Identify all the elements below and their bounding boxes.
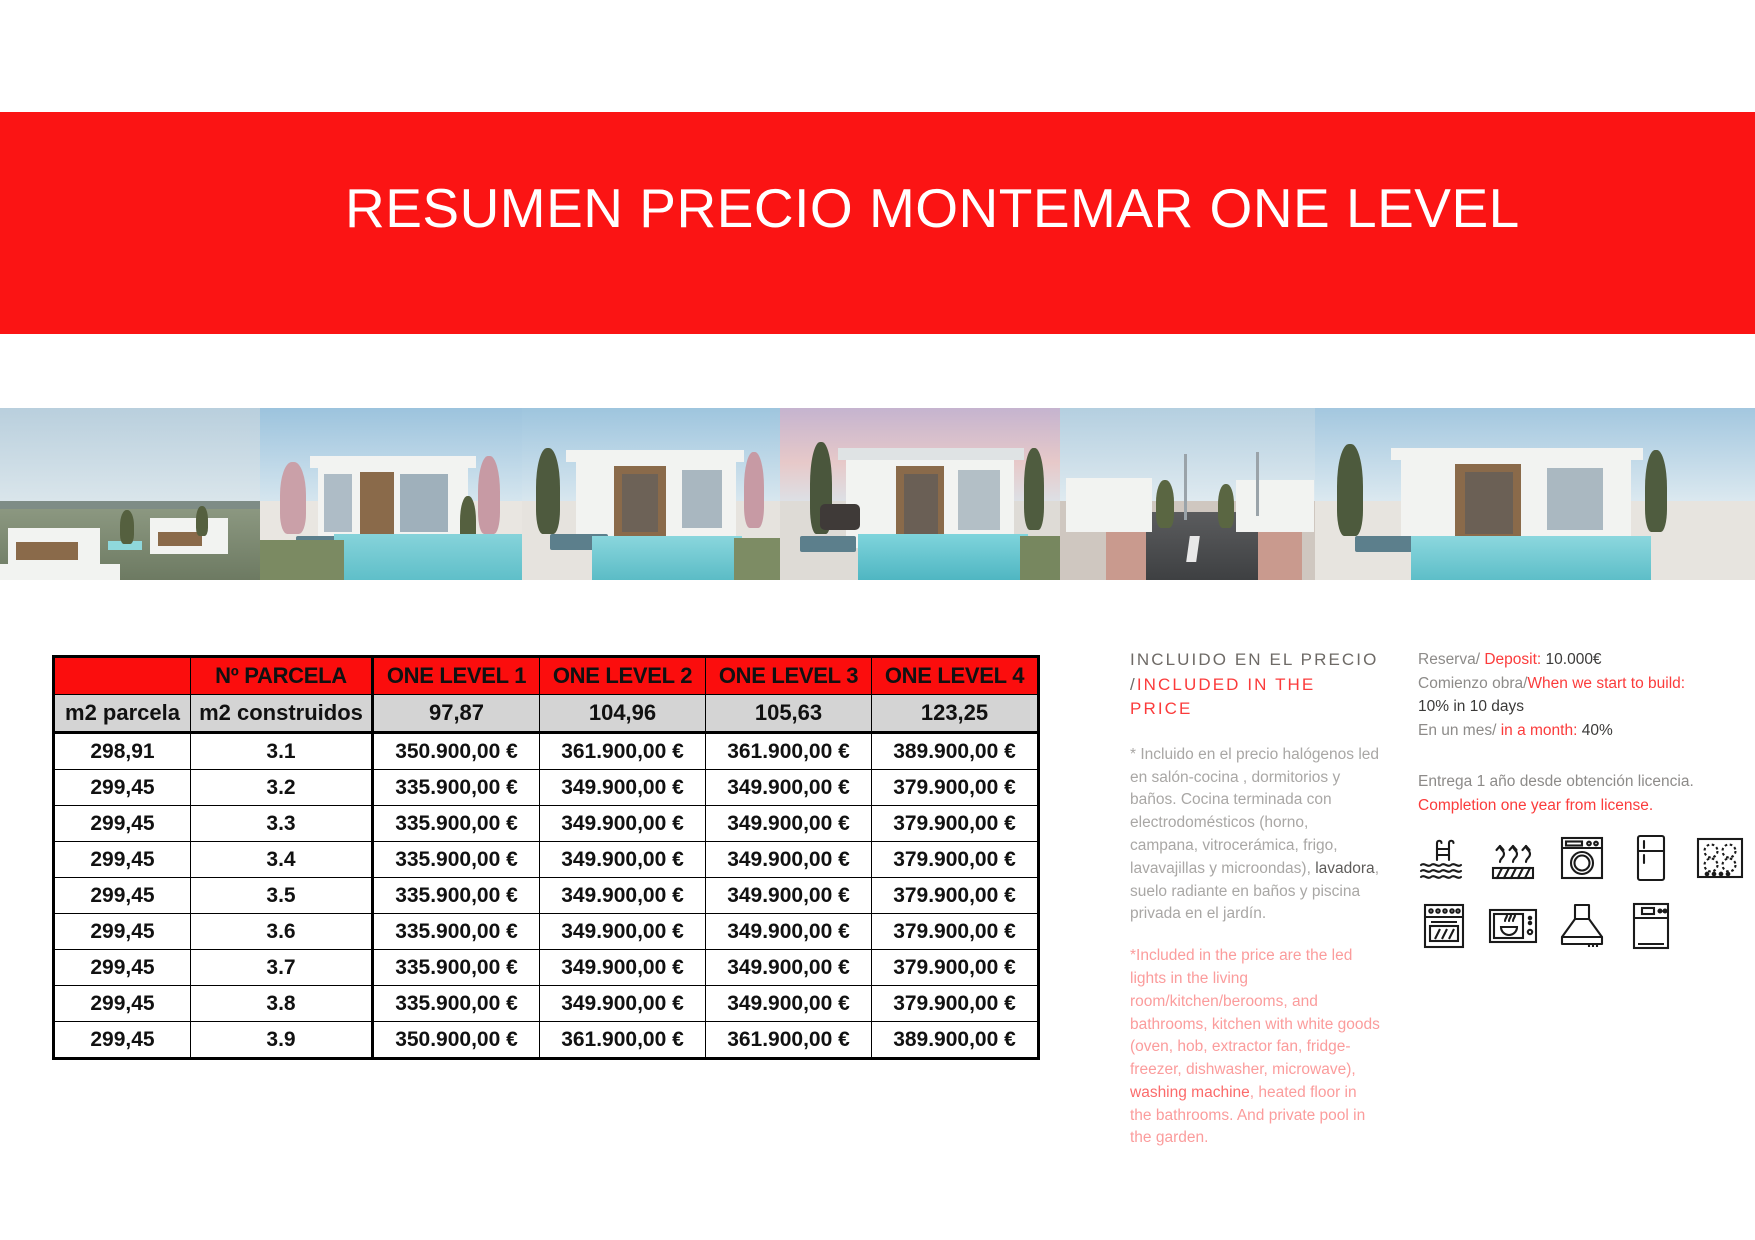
terms-month-line: En un mes/ in a month: 40% bbox=[1418, 719, 1718, 743]
extractor-hood-icon bbox=[1556, 900, 1608, 952]
photo-villa-terrace-pool-1 bbox=[260, 408, 522, 580]
terms-delivery-es: Entrega 1 año desde obtención licencia. bbox=[1418, 770, 1718, 794]
table-row: 299,45 3.2 335.900,00 € 349.900,00 € 349… bbox=[54, 770, 1039, 806]
header-area-one-level-3: 105,63 bbox=[706, 695, 872, 733]
terms-start-build-value: 10% in 10 days bbox=[1418, 695, 1718, 719]
cell-price-level-2: 349.900,00 € bbox=[540, 842, 706, 878]
photo-villa-terrace-pool-3 bbox=[1315, 408, 1755, 580]
cell-m2-parcela: 299,45 bbox=[54, 986, 191, 1022]
cell-price-level-4: 379.900,00 € bbox=[872, 770, 1039, 806]
private-pool-icon bbox=[1418, 832, 1470, 884]
included-heading-en: /INCLUDED IN THE PRICE bbox=[1130, 673, 1380, 722]
included-body-es: * Incluido en el precio halógenos led en… bbox=[1130, 744, 1380, 926]
appliance-icon-row-2 bbox=[1418, 900, 1728, 952]
cell-price-level-1: 335.900,00 € bbox=[373, 842, 540, 878]
included-body-en-highlight: washing machine bbox=[1130, 1084, 1250, 1101]
cell-price-level-1: 335.900,00 € bbox=[373, 806, 540, 842]
cell-m2-parcela: 299,45 bbox=[54, 842, 191, 878]
microwave-icon bbox=[1487, 900, 1539, 952]
cell-m2-parcela: 299,45 bbox=[54, 806, 191, 842]
cell-price-level-1: 335.900,00 € bbox=[373, 878, 540, 914]
table-row: 299,45 3.7 335.900,00 € 349.900,00 € 349… bbox=[54, 950, 1039, 986]
cell-parcela-number: 3.1 bbox=[191, 733, 373, 770]
photo-aerial-view-development bbox=[0, 408, 260, 580]
terms-start-build-label-es: Comienzo obra/ bbox=[1418, 675, 1527, 692]
cell-m2-parcela: 299,45 bbox=[54, 950, 191, 986]
included-body-en-part1: *Included in the price are the led light… bbox=[1130, 947, 1380, 1078]
included-body-es-highlight: lavadora bbox=[1315, 860, 1374, 877]
cell-price-level-3: 349.900,00 € bbox=[706, 878, 872, 914]
terms-deposit-value: 10.000€ bbox=[1541, 651, 1601, 668]
cell-m2-parcela: 298,91 bbox=[54, 733, 191, 770]
cell-m2-parcela: 299,45 bbox=[54, 878, 191, 914]
terms-month-label-en: in a month: bbox=[1501, 722, 1578, 739]
header-one-level-2: ONE LEVEL 2 bbox=[540, 657, 706, 695]
cell-m2-parcela: 299,45 bbox=[54, 914, 191, 950]
cell-price-level-2: 361.900,00 € bbox=[540, 733, 706, 770]
cell-price-level-4: 379.900,00 € bbox=[872, 950, 1039, 986]
cell-price-level-4: 379.900,00 € bbox=[872, 878, 1039, 914]
cell-m2-parcela: 299,45 bbox=[54, 770, 191, 806]
hob-icon bbox=[1694, 832, 1746, 884]
table-row: 299,45 3.4 335.900,00 € 349.900,00 € 349… bbox=[54, 842, 1039, 878]
cell-price-level-3: 349.900,00 € bbox=[706, 950, 872, 986]
table-header-row-gray: m2 parcela m2 construidos 97,87 104,96 1… bbox=[54, 695, 1039, 733]
cell-price-level-3: 349.900,00 € bbox=[706, 986, 872, 1022]
cell-price-level-4: 389.900,00 € bbox=[872, 1022, 1039, 1059]
cell-parcela-number: 3.7 bbox=[191, 950, 373, 986]
table-row: 299,45 3.6 335.900,00 € 349.900,00 € 349… bbox=[54, 914, 1039, 950]
terms-start-build-label-en: When we start to build: bbox=[1527, 675, 1685, 692]
header-m2-construidos: m2 construidos bbox=[191, 695, 373, 733]
cell-parcela-number: 3.3 bbox=[191, 806, 373, 842]
included-body-en: *Included in the price are the led light… bbox=[1130, 945, 1380, 1150]
table-body: 298,91 3.1 350.900,00 € 361.900,00 € 361… bbox=[54, 733, 1039, 1059]
underfloor-heating-icon bbox=[1487, 832, 1539, 884]
cell-price-level-3: 349.900,00 € bbox=[706, 914, 872, 950]
terms-deposit-label-en: Deposit: bbox=[1484, 651, 1541, 668]
photo-strip bbox=[0, 408, 1755, 580]
photo-street-view-development bbox=[1060, 408, 1315, 580]
oven-icon bbox=[1418, 900, 1470, 952]
photo-villa-dusk-carport bbox=[780, 408, 1060, 580]
pricing-table: Nº PARCELA ONE LEVEL 1 ONE LEVEL 2 ONE L… bbox=[52, 655, 1040, 1060]
header-blank bbox=[54, 657, 191, 695]
cell-price-level-1: 350.900,00 € bbox=[373, 733, 540, 770]
header-one-level-4: ONE LEVEL 4 bbox=[872, 657, 1039, 695]
slash-separator: / bbox=[1130, 675, 1137, 694]
terms-start-build-line: Comienzo obra/When we start to build: bbox=[1418, 672, 1718, 696]
included-heading-es: INCLUIDO EN EL PRECIO bbox=[1130, 648, 1380, 673]
cell-price-level-1: 335.900,00 € bbox=[373, 986, 540, 1022]
pricing-table-wrap: Nº PARCELA ONE LEVEL 1 ONE LEVEL 2 ONE L… bbox=[52, 655, 1040, 1060]
cell-price-level-2: 361.900,00 € bbox=[540, 1022, 706, 1059]
table-row: 299,45 3.8 335.900,00 € 349.900,00 € 349… bbox=[54, 986, 1039, 1022]
cell-m2-parcela: 299,45 bbox=[54, 1022, 191, 1059]
cell-price-level-1: 350.900,00 € bbox=[373, 1022, 540, 1059]
cell-price-level-4: 379.900,00 € bbox=[872, 914, 1039, 950]
terms-deposit-line: Reserva/ Deposit: 10.000€ bbox=[1418, 648, 1718, 672]
cell-price-level-2: 349.900,00 € bbox=[540, 914, 706, 950]
cell-price-level-3: 349.900,00 € bbox=[706, 770, 872, 806]
cell-price-level-4: 379.900,00 € bbox=[872, 806, 1039, 842]
appliance-icon-row-1 bbox=[1418, 832, 1728, 884]
cell-parcela-number: 3.4 bbox=[191, 842, 373, 878]
terms-deposit-label-es: Reserva/ bbox=[1418, 651, 1484, 668]
included-heading-en-text: INCLUDED IN THE PRICE bbox=[1130, 675, 1315, 719]
photo-villa-terrace-pool-2 bbox=[522, 408, 780, 580]
cell-price-level-4: 379.900,00 € bbox=[872, 842, 1039, 878]
table-header-row-red: Nº PARCELA ONE LEVEL 1 ONE LEVEL 2 ONE L… bbox=[54, 657, 1039, 695]
included-body-es-part1: * Incluido en el precio halógenos led en… bbox=[1130, 746, 1379, 877]
cell-parcela-number: 3.6 bbox=[191, 914, 373, 950]
cell-price-level-2: 349.900,00 € bbox=[540, 806, 706, 842]
header-one-level-3: ONE LEVEL 3 bbox=[706, 657, 872, 695]
cell-parcela-number: 3.2 bbox=[191, 770, 373, 806]
terms-month-value: 40% bbox=[1577, 722, 1612, 739]
table-row: 298,91 3.1 350.900,00 € 361.900,00 € 361… bbox=[54, 733, 1039, 770]
title-banner: RESUMEN PRECIO MONTEMAR ONE LEVEL bbox=[0, 112, 1755, 334]
table-row: 299,45 3.9 350.900,00 € 361.900,00 € 361… bbox=[54, 1022, 1039, 1059]
cell-price-level-3: 361.900,00 € bbox=[706, 733, 872, 770]
header-area-one-level-1: 97,87 bbox=[373, 695, 540, 733]
cell-price-level-2: 349.900,00 € bbox=[540, 950, 706, 986]
included-in-price-section: INCLUIDO EN EL PRECIO /INCLUDED IN THE P… bbox=[1130, 648, 1380, 1150]
terms-delivery-en: Completion one year from license. bbox=[1418, 794, 1718, 818]
cell-price-level-2: 349.900,00 € bbox=[540, 878, 706, 914]
table-row: 299,45 3.5 335.900,00 € 349.900,00 € 349… bbox=[54, 878, 1039, 914]
terms-month-label-es: En un mes/ bbox=[1418, 722, 1501, 739]
cell-parcela-number: 3.8 bbox=[191, 986, 373, 1022]
cell-parcela-number: 3.5 bbox=[191, 878, 373, 914]
header-parcela: Nº PARCELA bbox=[191, 657, 373, 695]
washing-machine-icon bbox=[1556, 832, 1608, 884]
header-area-one-level-4: 123,25 bbox=[872, 695, 1039, 733]
cell-price-level-2: 349.900,00 € bbox=[540, 770, 706, 806]
cell-price-level-1: 335.900,00 € bbox=[373, 770, 540, 806]
cell-price-level-4: 379.900,00 € bbox=[872, 986, 1039, 1022]
payment-terms-section: Reserva/ Deposit: 10.000€ Comienzo obra/… bbox=[1418, 648, 1718, 817]
header-area-one-level-2: 104,96 bbox=[540, 695, 706, 733]
dishwasher-icon bbox=[1625, 900, 1677, 952]
cell-price-level-3: 349.900,00 € bbox=[706, 842, 872, 878]
cell-price-level-3: 349.900,00 € bbox=[706, 806, 872, 842]
page-title: RESUMEN PRECIO MONTEMAR ONE LEVEL bbox=[345, 176, 1520, 240]
cell-price-level-1: 335.900,00 € bbox=[373, 914, 540, 950]
appliance-icons-section bbox=[1418, 832, 1728, 968]
cell-price-level-2: 349.900,00 € bbox=[540, 986, 706, 1022]
cell-price-level-1: 335.900,00 € bbox=[373, 950, 540, 986]
cell-price-level-3: 361.900,00 € bbox=[706, 1022, 872, 1059]
cell-price-level-4: 389.900,00 € bbox=[872, 733, 1039, 770]
cell-parcela-number: 3.9 bbox=[191, 1022, 373, 1059]
header-one-level-1: ONE LEVEL 1 bbox=[373, 657, 540, 695]
table-row: 299,45 3.3 335.900,00 € 349.900,00 € 349… bbox=[54, 806, 1039, 842]
header-m2-parcela: m2 parcela bbox=[54, 695, 191, 733]
fridge-freezer-icon bbox=[1625, 832, 1677, 884]
